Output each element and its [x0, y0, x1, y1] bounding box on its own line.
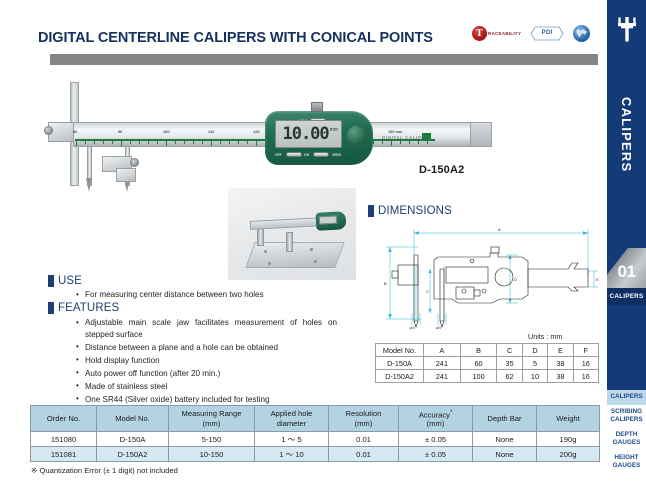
sidebar-item-depth-gauges[interactable]: DEPTHGAUGES — [607, 428, 646, 451]
caliper-scale-tick-minor — [130, 140, 131, 144]
sidebar-vertical-title: CALIPERS — [607, 60, 646, 210]
caliper-slider-frame — [116, 168, 136, 182]
header-gray-rule — [50, 54, 598, 65]
svg-text:E: E — [596, 277, 599, 282]
caliper-scale-tick-major — [211, 140, 212, 146]
dim-cell: 16 — [573, 370, 598, 383]
caliper-scale-tick-minor — [238, 140, 239, 144]
sidebar-active-category-label: CALIPERS — [610, 293, 644, 300]
measuring-pin-right — [286, 232, 293, 252]
caliper-lock-nut-upper — [44, 126, 53, 135]
traceability-logo: T RACEABILITY — [472, 26, 521, 41]
features-heading-label: FEATURES — [58, 302, 119, 314]
caliper-scale-tick-minor — [112, 140, 113, 144]
dim-col-c: C — [497, 344, 522, 357]
dim-cell: 62 — [497, 370, 522, 383]
sidebar-active-category: CALIPERS — [607, 288, 646, 305]
caliper-scale-tick-major — [121, 140, 122, 146]
spec-col-accuracy: Accuracy*(mm) — [399, 406, 473, 432]
caliper-scale-tick-minor — [427, 140, 428, 144]
table-row: D-150A 241 60 35 5 38 16 — [376, 357, 599, 370]
caliper-icon — [617, 16, 637, 42]
table-row: 151080 D-150A 5-150 1 ～ 5 0.01 ± 0.05 No… — [31, 432, 600, 447]
globe-icon — [573, 25, 590, 42]
dim-col-d: D — [522, 344, 547, 357]
caliper-zero-button[interactable] — [313, 152, 329, 157]
features-heading: FEATURES — [48, 302, 119, 314]
list-item: Distance between a plane and a hole can … — [75, 342, 337, 354]
dim-col-a: A — [424, 344, 461, 357]
dim-cell: 60 — [460, 357, 497, 370]
units-label: Units : mm — [528, 332, 562, 341]
spec-col-applied-hole-diameter: Applied holediameter — [255, 406, 329, 432]
spec-cell: 1 ～ 10 — [255, 447, 329, 462]
spec-cell: None — [473, 447, 537, 462]
list-item: Made of stainless steel — [75, 381, 337, 393]
caliper-scale-green-line — [75, 139, 435, 141]
spec-col-model-no: Model No. — [97, 406, 169, 432]
dim-col-f: F — [573, 344, 598, 357]
caliper-brand-mark-icon — [422, 133, 431, 140]
spec-cell: D-150A — [97, 432, 169, 447]
caliper-scale-tick-minor — [229, 140, 230, 144]
list-item: Auto power off function (after 20 min.) — [75, 368, 337, 380]
use-heading: USE — [48, 275, 82, 287]
caliper-scale-tick-major — [166, 140, 167, 146]
table-header-row: Model No. A B C D E F — [376, 344, 599, 357]
svg-text:ø3: ø3 — [410, 325, 415, 330]
spec-cell: 5-150 — [169, 432, 255, 447]
svg-text:B: B — [384, 281, 387, 286]
dimensions-heading: DIMENSIONS — [368, 205, 452, 217]
workpiece-hole — [268, 262, 271, 265]
caliper-scale-tick-minor — [175, 140, 176, 144]
specification-table: Order No. Model No. Measuring Range(mm) … — [30, 405, 600, 462]
dim-cell: 38 — [548, 357, 573, 370]
list-item: For measuring center distance between tw… — [75, 289, 337, 301]
caliper-scale-tick-major — [391, 140, 392, 146]
spec-cell: 190g — [537, 432, 600, 447]
spec-col-weight: Weight — [537, 406, 600, 432]
caliper-conical-point-1 — [86, 178, 92, 192]
svg-text:C: C — [426, 289, 429, 294]
product-photo-application — [228, 188, 356, 280]
table-row: 151081 D-150A2 10-150 1 ～ 10 0.01 ± 0.05… — [31, 447, 600, 462]
dim-cell: 5 — [522, 357, 547, 370]
caliper-scale-number: 120 — [253, 129, 260, 134]
dim-col-b: B — [460, 344, 497, 357]
caliper-lcd-display: 10.00 mm — [275, 120, 342, 148]
caliper-beam-end — [470, 122, 492, 147]
list-item: One SR44 (Silver oxide) battery included… — [75, 394, 337, 406]
caliper-scale-tick-minor — [400, 140, 401, 144]
table-footnote: ※ Quantization Error (± 1 digit) not inc… — [31, 466, 178, 475]
spec-cell: 200g — [537, 447, 600, 462]
dim-cell: D-150A2 — [376, 370, 424, 383]
caliper-scale-tick-minor — [373, 140, 374, 144]
certification-logos: T RACEABILITY PDI — [472, 22, 590, 44]
dimensions-technical-drawing: A B C D E ø3 ø3 — [372, 225, 600, 330]
catalog-page: DIGITAL CENTERLINE CALIPERS WITH CONICAL… — [0, 0, 646, 490]
caliper-scale-tick-minor — [139, 140, 140, 144]
sidebar-vertical-title-label: CALIPERS — [619, 97, 634, 172]
dim-cell: 38 — [548, 370, 573, 383]
use-bullet-list: For measuring center distance between tw… — [75, 289, 337, 302]
caliper-scale-tick-minor — [409, 140, 410, 144]
dim-cell: 16 — [573, 357, 598, 370]
spec-cell: None — [473, 432, 537, 447]
spec-col-measuring-range: Measuring Range(mm) — [169, 406, 255, 432]
sidebar-item-scribing-calipers[interactable]: SCRIBINGCALIPERS — [607, 405, 646, 428]
traceability-t-icon: T — [472, 26, 487, 41]
sidebar-category-menu: CALIPERS SCRIBINGCALIPERS DEPTHGAUGES HE… — [607, 390, 646, 474]
page-number: 01 — [607, 262, 646, 282]
spec-col-resolution: Resolution(mm) — [329, 406, 399, 432]
spec-cell: ± 0.05 — [399, 447, 473, 462]
caliper-scale-number: 80 — [73, 129, 77, 134]
spec-cell: D-150A2 — [97, 447, 169, 462]
spec-cell: 0.01 — [329, 447, 399, 462]
spec-cell: 151080 — [31, 432, 97, 447]
caliper-adjust-knob[interactable] — [347, 126, 365, 144]
caliper-scale-tick-minor — [202, 140, 203, 144]
svg-text:D: D — [514, 277, 517, 282]
spec-cell: ± 0.05 — [399, 432, 473, 447]
caliper-scale-tick-minor — [193, 140, 194, 144]
photo2-caliper-lcd — [319, 216, 337, 225]
list-item: Hold display function — [75, 355, 337, 367]
spec-cell: 0.01 — [329, 432, 399, 447]
caliper-zero-label: ZERO — [332, 153, 341, 157]
workpiece-hole — [264, 250, 267, 253]
caliper-scale-number: 110 — [208, 129, 214, 134]
caliper-on-label: ON — [304, 153, 309, 157]
dimensions-heading-label: DIMENSIONS — [378, 205, 452, 217]
dim-cell: 10 — [522, 370, 547, 383]
workpiece-hole — [314, 260, 317, 263]
svg-text:ø3: ø3 — [436, 325, 441, 330]
spec-cell: 1 ～ 5 — [255, 432, 329, 447]
caliper-scale-tick-minor — [382, 140, 383, 144]
caliper-scale-tick-minor — [148, 140, 149, 144]
caliper-scale-tick-major — [256, 140, 257, 146]
caliper-off-label: OFF — [275, 153, 282, 157]
pdi-logo: PDI — [530, 26, 564, 41]
spec-cell: 151081 — [31, 447, 97, 462]
caliper-scale-tick-minor — [157, 140, 158, 144]
caliper-thumb-roller — [311, 102, 323, 112]
dim-cell: 241 — [424, 357, 461, 370]
photo2-caliper-beam — [250, 217, 324, 230]
pdi-label: PDI — [542, 30, 553, 36]
dimensions-table: Model No. A B C D E F D-150A 241 60 35 5… — [375, 343, 599, 383]
caliper-scale-tick-minor — [85, 140, 86, 144]
caliper-scale-number: 150 mm — [388, 129, 403, 134]
list-item: Adjustable main scale jaw facilitates me… — [75, 317, 337, 340]
dim-cell: 241 — [424, 370, 461, 383]
caliper-lock-nut-lower — [130, 158, 139, 167]
dimensions-heading-bar-icon — [368, 205, 374, 217]
lcd-value: 10.00 — [282, 126, 328, 143]
table-row: D-150A2 241 100 62 10 38 16 — [376, 370, 599, 383]
dim-cell: 35 — [497, 357, 522, 370]
svg-text:A: A — [498, 227, 501, 232]
caliper-scale-number: 90 — [118, 129, 122, 134]
product-photo-main: 8090100110120130140150 mm DIGITAL CALIPE… — [30, 78, 500, 196]
features-heading-bar-icon — [48, 302, 54, 314]
sidebar-item-height-gauges[interactable]: HEIGHTGAUGES — [607, 451, 646, 474]
caliper-scale-tick-minor — [184, 140, 185, 144]
sidebar-item-calipers[interactable]: CALIPERS — [607, 390, 646, 405]
dim-col-e: E — [548, 344, 573, 357]
dim-cell: 100 — [460, 370, 497, 383]
caliper-scale-tick-minor — [247, 140, 248, 144]
caliper-scale-number: 100 — [163, 129, 170, 134]
use-heading-label: USE — [58, 275, 82, 287]
caliper-scale-tick-minor — [220, 140, 221, 144]
caliper-onoff-button[interactable] — [286, 152, 302, 157]
spec-col-depth-bar: Depth Bar — [473, 406, 537, 432]
caliper-scale-tick-minor — [103, 140, 104, 144]
spec-col-order-no: Order No. — [31, 406, 97, 432]
lcd-unit: mm — [330, 127, 338, 133]
dim-cell: D-150A — [376, 357, 424, 370]
page-title: DIGITAL CENTERLINE CALIPERS WITH CONICAL… — [38, 28, 458, 48]
spec-cell: 10-150 — [169, 447, 255, 462]
dim-col-model: Model No. — [376, 344, 424, 357]
traceability-label: RACEABILITY — [488, 31, 521, 36]
features-bullet-list: Adjustable main scale jaw facilitates me… — [75, 317, 337, 407]
product-model-label: D-150A2 — [419, 164, 464, 176]
page-title-bar: DIGITAL CENTERLINE CALIPERS WITH CONICAL… — [38, 28, 458, 50]
workpiece-hole — [310, 248, 313, 251]
caliper-scale-tick-minor — [418, 140, 419, 144]
table-header-row: Order No. Model No. Measuring Range(mm) … — [31, 406, 600, 432]
caliper-scale-tick-minor — [94, 140, 95, 144]
use-heading-bar-icon — [48, 275, 54, 287]
caliper-scale-tick-major — [76, 140, 77, 146]
